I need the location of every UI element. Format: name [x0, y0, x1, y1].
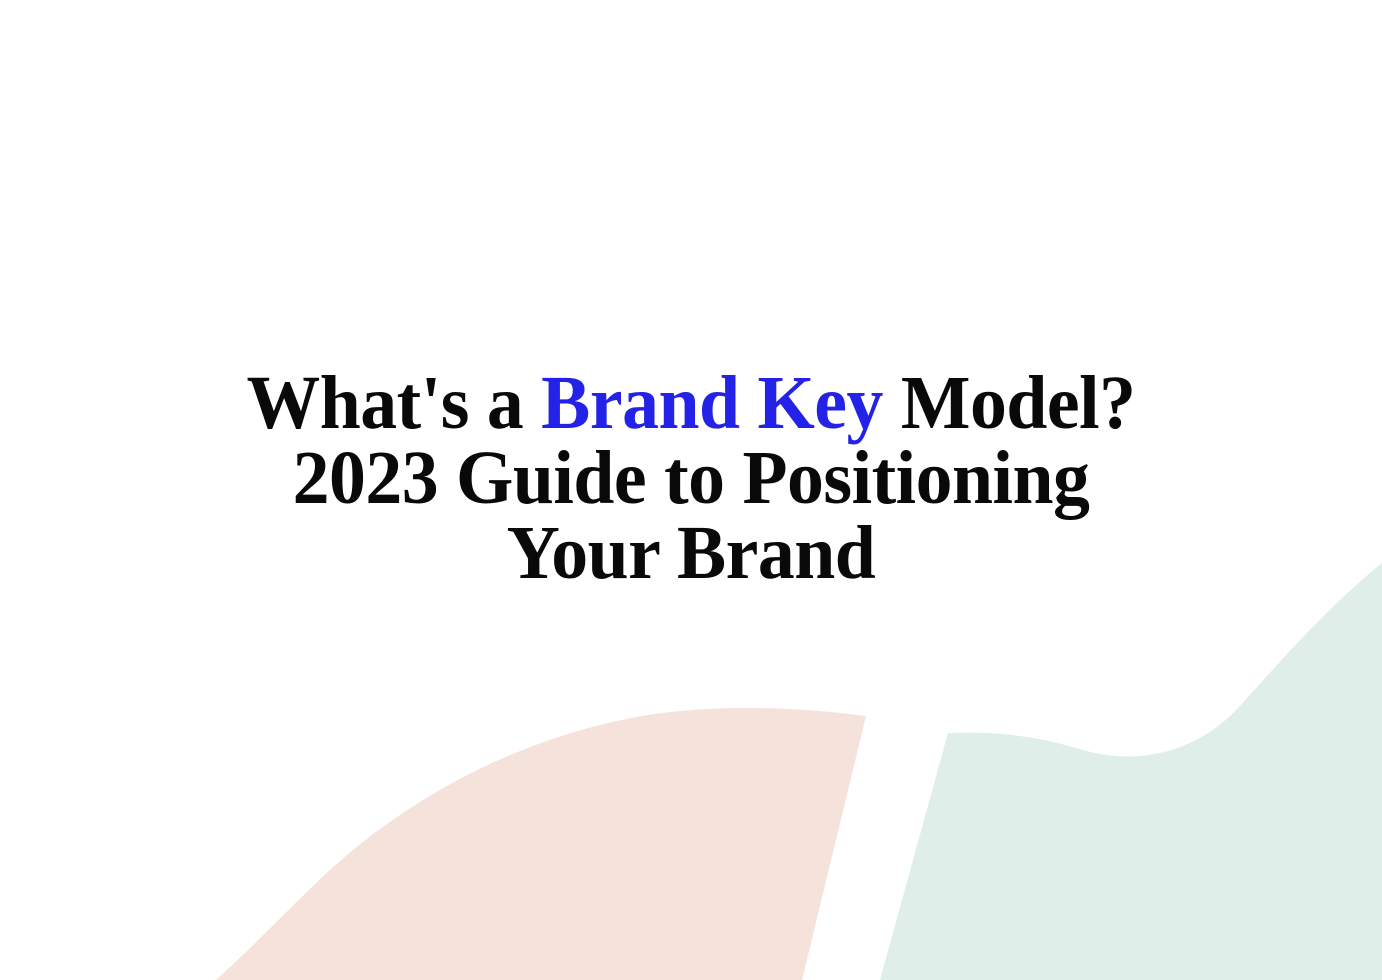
title-line-1-text-after: Model?	[883, 361, 1136, 445]
title-line-2: 2023 Guide to Positioning	[79, 441, 1303, 516]
mint-wave-shape	[880, 563, 1382, 980]
hero-banner: What's a Brand Key Model? 2023 Guide to …	[0, 0, 1382, 980]
title-line-3: Your Brand	[79, 516, 1303, 591]
page-title: What's a Brand Key Model? 2023 Guide to …	[0, 366, 1382, 591]
title-line-1-text-before: What's a	[247, 361, 542, 445]
title-line-1: What's a Brand Key Model?	[79, 366, 1303, 441]
pink-petal-shape	[216, 708, 866, 980]
title-accent-brand-key: Brand Key	[541, 361, 883, 445]
